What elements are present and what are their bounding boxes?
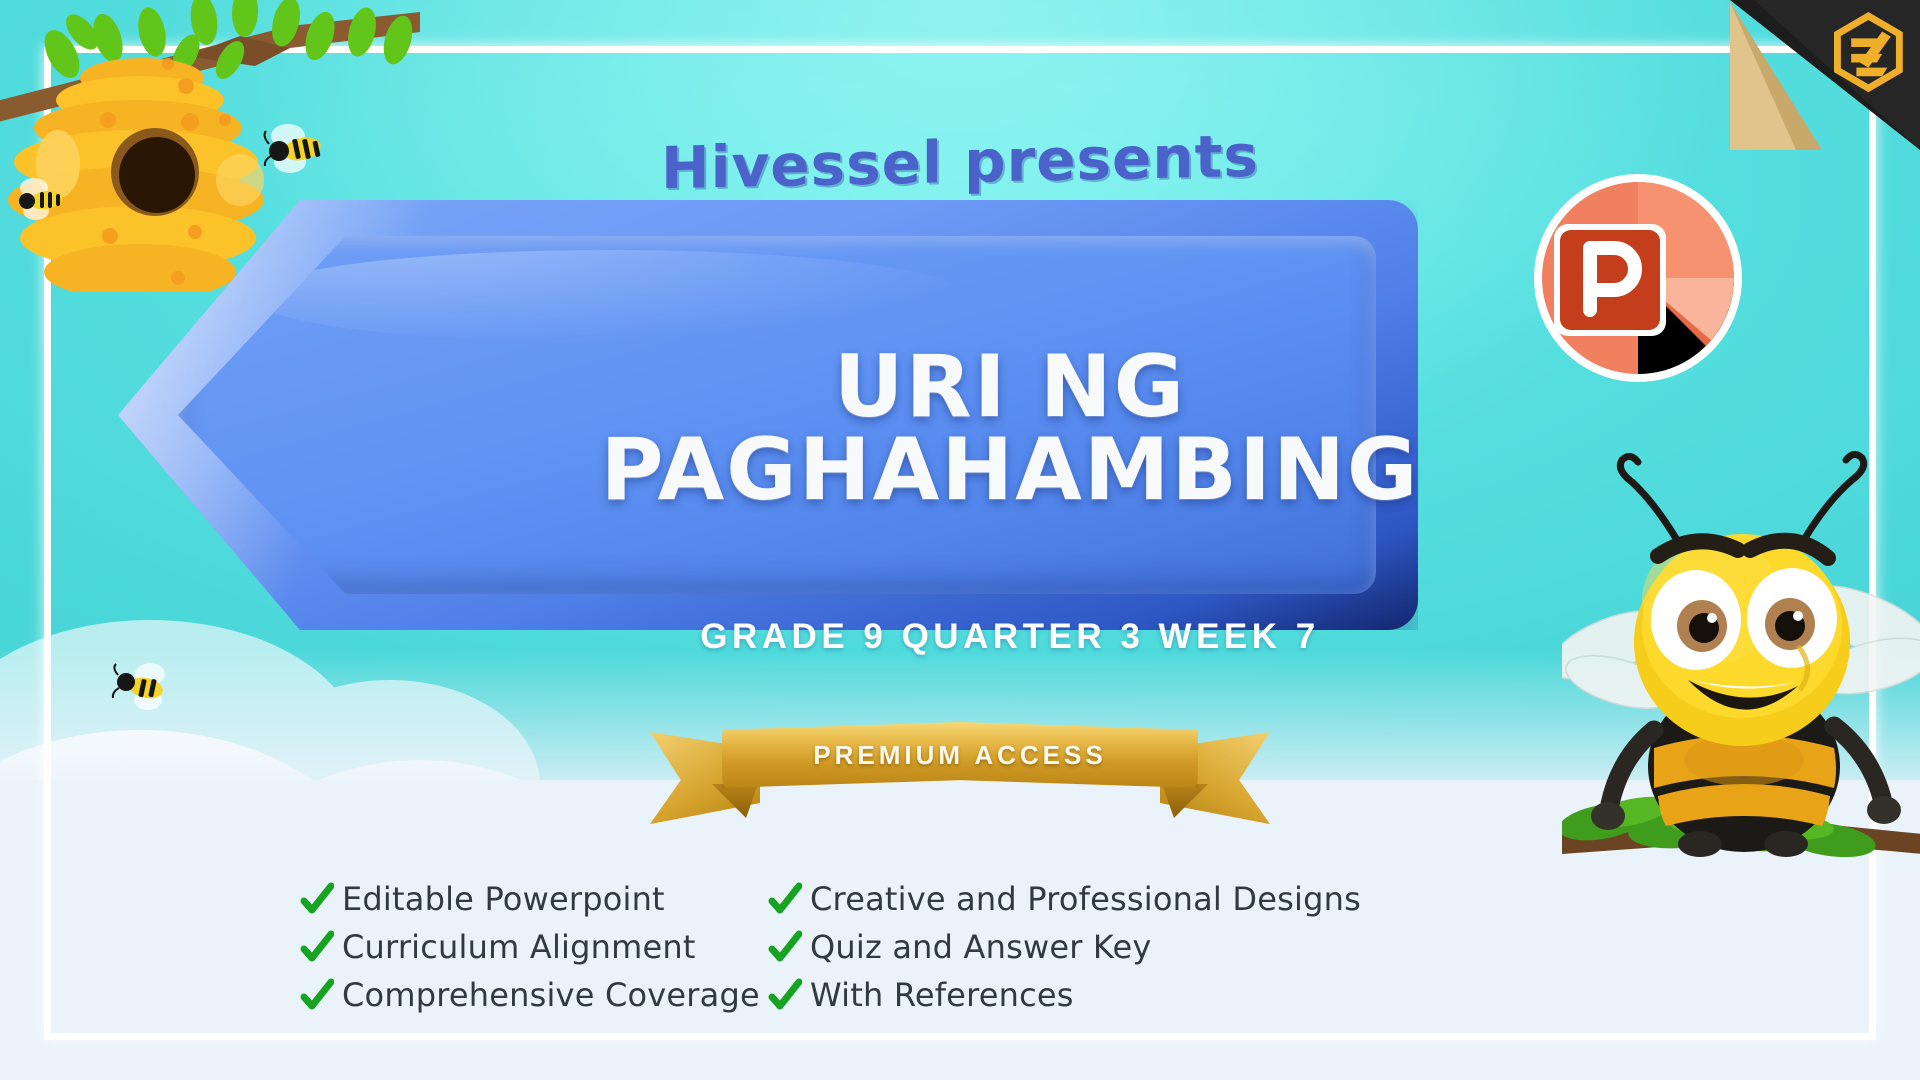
feature-label: Comprehensive Coverage (342, 976, 760, 1014)
feature-label: Editable Powerpoint (342, 880, 665, 918)
bee-mascot-icon (1562, 430, 1920, 880)
feature-label: Creative and Professional Designs (810, 880, 1361, 918)
flying-bee-icon (110, 660, 176, 712)
check-icon (768, 930, 802, 964)
list-item: Quiz and Answer Key (768, 928, 1361, 966)
powerpoint-icon[interactable] (1528, 168, 1748, 388)
feature-label: Curriculum Alignment (342, 928, 696, 966)
feature-column-left: Editable Powerpoint Curriculum Alignment… (300, 880, 720, 1014)
corner-fold (1730, 0, 1920, 150)
check-icon (768, 978, 802, 1012)
feature-label: With References (810, 976, 1074, 1014)
list-item: Curriculum Alignment (300, 928, 720, 966)
list-item: Editable Powerpoint (300, 880, 720, 918)
list-item: Comprehensive Coverage (300, 976, 720, 1014)
poster-canvas: Hivessel presents URI NG PAGHAHAMBING GR… (0, 0, 1920, 1080)
list-item: With References (768, 976, 1361, 1014)
feature-column-right: Creative and Professional Designs Quiz a… (768, 880, 1361, 1014)
mascot-head (1634, 534, 1850, 746)
flying-bee-icon (262, 120, 334, 176)
feature-label: Quiz and Answer Key (810, 928, 1152, 966)
list-item: Creative and Professional Designs (768, 880, 1361, 918)
check-icon (300, 882, 334, 916)
ribbon-label: PREMIUM ACCESS (722, 722, 1198, 788)
premium-access-ribbon: PREMIUM ACCESS (650, 718, 1270, 838)
flying-bee-icon (12, 175, 74, 223)
feature-list: Editable Powerpoint Curriculum Alignment… (300, 880, 1620, 1014)
check-icon (300, 930, 334, 964)
check-icon (768, 882, 802, 916)
check-icon (300, 978, 334, 1012)
beehive-icon (0, 0, 420, 292)
